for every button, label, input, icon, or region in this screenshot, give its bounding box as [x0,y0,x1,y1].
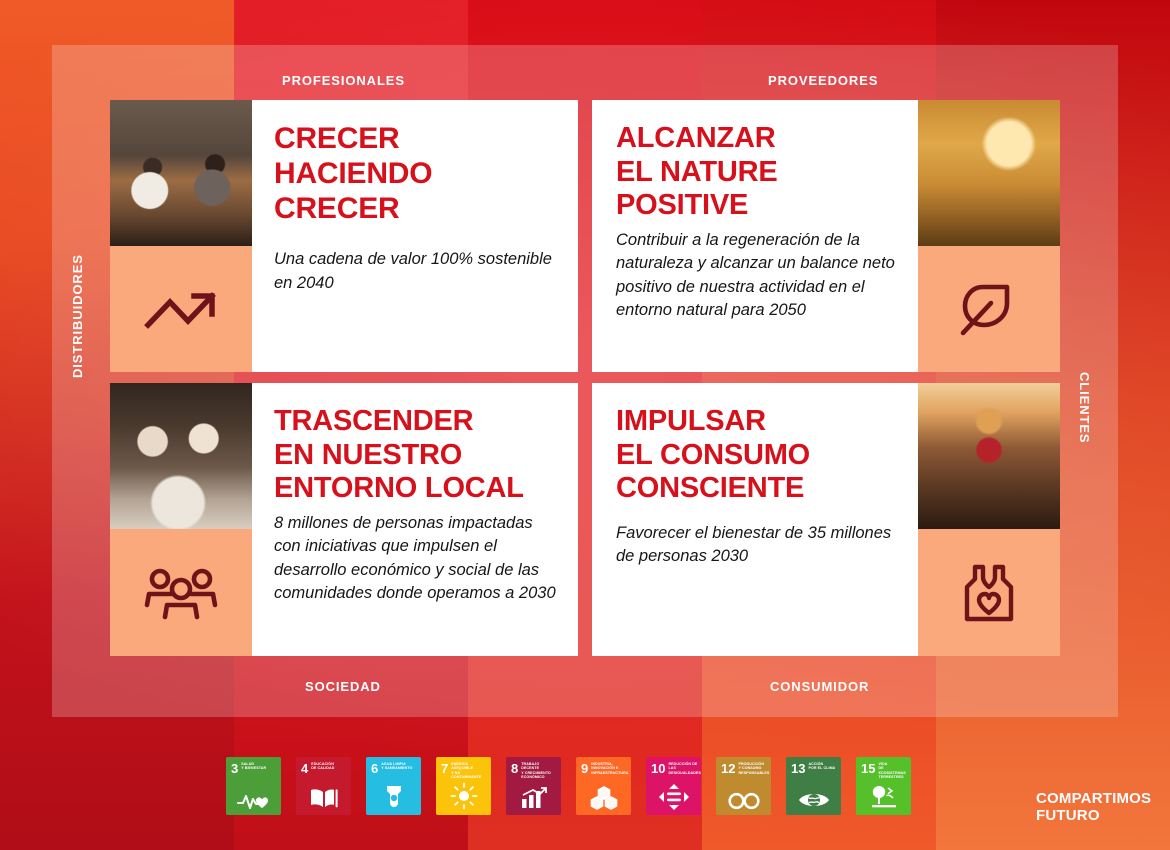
sdg-badge-number: 13 [791,762,805,775]
card-text-column: ALCANZAR EL NATURE POSITIVE Contribuir a… [592,100,918,372]
stakeholder-label-clientes: CLIENTES [1077,372,1092,443]
sdg-badge-name: EDUCACIÓN DE CALIDAD [311,762,334,771]
card-subtitle: 8 millones de personas impactadas con in… [274,512,556,606]
sdg-badge-header: 8TRABAJO DECENTE Y CRECIMIENTO ECONÓMICO [511,762,557,780]
equals-arrows-icon [646,784,701,810]
sdg-badge-number: 9 [581,762,588,775]
sdg-badge-header: 4EDUCACIÓN DE CALIDAD [301,762,347,775]
sdg-badge-number: 15 [861,762,875,775]
sdg-badge-number: 4 [301,762,308,775]
photo-chefs-plating-food [110,383,252,529]
card-media-column [918,383,1060,656]
sdg-badge-13[interactable]: 13ACCIÓN POR EL CLIMA [786,757,841,815]
sdg-badge-header: 3SALUD Y BIENESTAR [231,762,277,775]
icon-tile [918,246,1060,372]
sdg-badge-name: SALUD Y BIENESTAR [241,762,266,771]
sdg-badge-header: 15VIDA DE ECOSISTEMAS TERRESTRES [861,762,907,780]
sdg-badge-header: 10REDUCCIÓN DE LAS DESIGUALDADES [651,762,697,775]
sdg-badge-12[interactable]: 12PRODUCCIÓN Y CONSUMO RESPONSABLES [716,757,771,815]
sdg-badge-name: REDUCCIÓN DE LAS DESIGUALDADES [668,762,700,775]
sdg-badge-header: 12PRODUCCIÓN Y CONSUMO RESPONSABLES [721,762,767,775]
sdg-badge-number: 7 [441,762,448,775]
sdg-badge-name: VIDA DE ECOSISTEMAS TERRESTRES [878,762,907,780]
sdg-badge-name: ACCIÓN POR EL CLIMA [808,762,835,771]
cubes-icon [576,786,631,810]
infinity-icon [716,792,771,810]
sdg-badge-6[interactable]: 6AGUA LIMPIA Y SANEAMIENTO [366,757,421,815]
card-subtitle: Una cadena de valor 100% sostenible en 2… [274,248,556,295]
photo-woman-seated-on-canyon-rock [918,383,1060,529]
commitment-card-crecer-haciendo-crecer[interactable]: CRECER HACIENDO CRECER Una cadena de val… [110,100,578,372]
card-title: ALCANZAR EL NATURE POSITIVE [616,122,896,223]
sdg-badge-header: 13ACCIÓN POR EL CLIMA [791,762,837,775]
sdg-badge-10[interactable]: 10REDUCCIÓN DE LAS DESIGUALDADES [646,757,701,815]
commitment-card-impulsar-el-consumo-consciente[interactable]: IMPULSAR EL CONSUMO CONSCIENTE Favorecer… [592,383,1060,656]
icon-tile [110,529,252,656]
sdg-goal-strip: 3SALUD Y BIENESTAR4EDUCACIÓN DE CALIDAD6… [226,757,911,815]
sdg-badge-name: PRODUCCIÓN Y CONSUMO RESPONSABLES [738,762,769,775]
stakeholder-label-proveedores: PROVEEDORES [768,73,878,88]
people-group-icon [142,565,220,621]
card-media-column [918,100,1060,372]
commitment-card-alcanzar-el-nature-positive[interactable]: ALCANZAR EL NATURE POSITIVE Contribuir a… [592,100,1060,372]
water-drop-icon [366,784,421,810]
sdg-badge-3[interactable]: 3SALUD Y BIENESTAR [226,757,281,815]
tree-bird-icon [856,784,911,810]
photo-hand-over-wheat-field [918,100,1060,246]
sun-icon [436,782,491,810]
sdg-badge-8[interactable]: 8TRABAJO DECENTE Y CRECIMIENTO ECONÓMICO [506,757,561,815]
sdg-badge-number: 6 [371,762,378,775]
card-title: CRECER HACIENDO CRECER [274,122,556,226]
sdg-badge-number: 10 [651,762,665,775]
sdg-badge-15[interactable]: 15VIDA DE ECOSISTEMAS TERRESTRES [856,757,911,815]
sdg-badge-4[interactable]: 4EDUCACIÓN DE CALIDAD [296,757,351,815]
sdg-badge-number: 8 [511,762,518,775]
photo-people-at-cafe-table [110,100,252,246]
card-text-column: TRASCENDER EN NUESTRO ENTORNO LOCAL 8 mi… [252,383,578,656]
sdg-badge-name: INDUSTRIA, INNOVACIÓN E INFRAESTRUCTURA [591,762,628,775]
heartbeat-icon [226,792,281,810]
sdg-badge-name: AGUA LIMPIA Y SANEAMIENTO [381,762,412,771]
sdg-badge-name: TRABAJO DECENTE Y CRECIMIENTO ECONÓMICO [521,762,557,780]
card-text-column: IMPULSAR EL CONSUMO CONSCIENTE Favorecer… [592,383,918,656]
infographic-canvas: PROFESIONALES PROVEEDORES SOCIEDAD CONSU… [0,0,1170,850]
shopping-bag-heart-icon [961,561,1017,625]
sdg-badge-header: 9INDUSTRIA, INNOVACIÓN E INFRAESTRUCTURA [581,762,627,775]
eye-globe-icon [786,790,841,810]
sdg-badge-number: 12 [721,762,735,775]
open-book-icon [296,788,351,810]
sdg-badge-name: ENERGÍA ASEQUIBLE Y NO CONTAMINANTE [451,762,487,780]
sdg-badge-header: 7ENERGÍA ASEQUIBLE Y NO CONTAMINANTE [441,762,487,780]
trending-up-icon [144,285,218,333]
card-subtitle: Favorecer el bienestar de 35 millones de… [616,522,896,569]
sdg-badge-7[interactable]: 7ENERGÍA ASEQUIBLE Y NO CONTAMINANTE [436,757,491,815]
sdg-badge-9[interactable]: 9INDUSTRIA, INNOVACIÓN E INFRAESTRUCTURA [576,757,631,815]
stakeholder-label-consumidor: CONSUMIDOR [770,679,869,694]
icon-tile [110,246,252,372]
icon-tile [918,529,1060,656]
stakeholder-label-distribuidores: DISTRIBUIDORES [70,254,85,378]
card-media-column [110,383,252,656]
brand-mark-compartimos-futuro: COMPARTIMOS FUTURO [1036,791,1151,825]
card-title: IMPULSAR EL CONSUMO CONSCIENTE [616,405,896,506]
stakeholder-label-sociedad: SOCIEDAD [305,679,381,694]
stakeholder-label-profesionales: PROFESIONALES [282,73,405,88]
card-text-column: CRECER HACIENDO CRECER Una cadena de val… [252,100,578,372]
card-media-column [110,100,252,372]
bar-chart-arrow-icon [506,786,561,810]
sdg-badge-number: 3 [231,762,238,775]
commitment-card-grid: CRECER HACIENDO CRECER Una cadena de val… [110,100,1060,656]
leaf-icon [957,277,1021,341]
sdg-badge-header: 6AGUA LIMPIA Y SANEAMIENTO [371,762,417,775]
card-subtitle: Contribuir a la regeneración de la natur… [616,229,896,323]
card-title: TRASCENDER EN NUESTRO ENTORNO LOCAL [274,405,556,506]
commitment-card-trascender-en-nuestro-entorno-local[interactable]: TRASCENDER EN NUESTRO ENTORNO LOCAL 8 mi… [110,383,578,656]
